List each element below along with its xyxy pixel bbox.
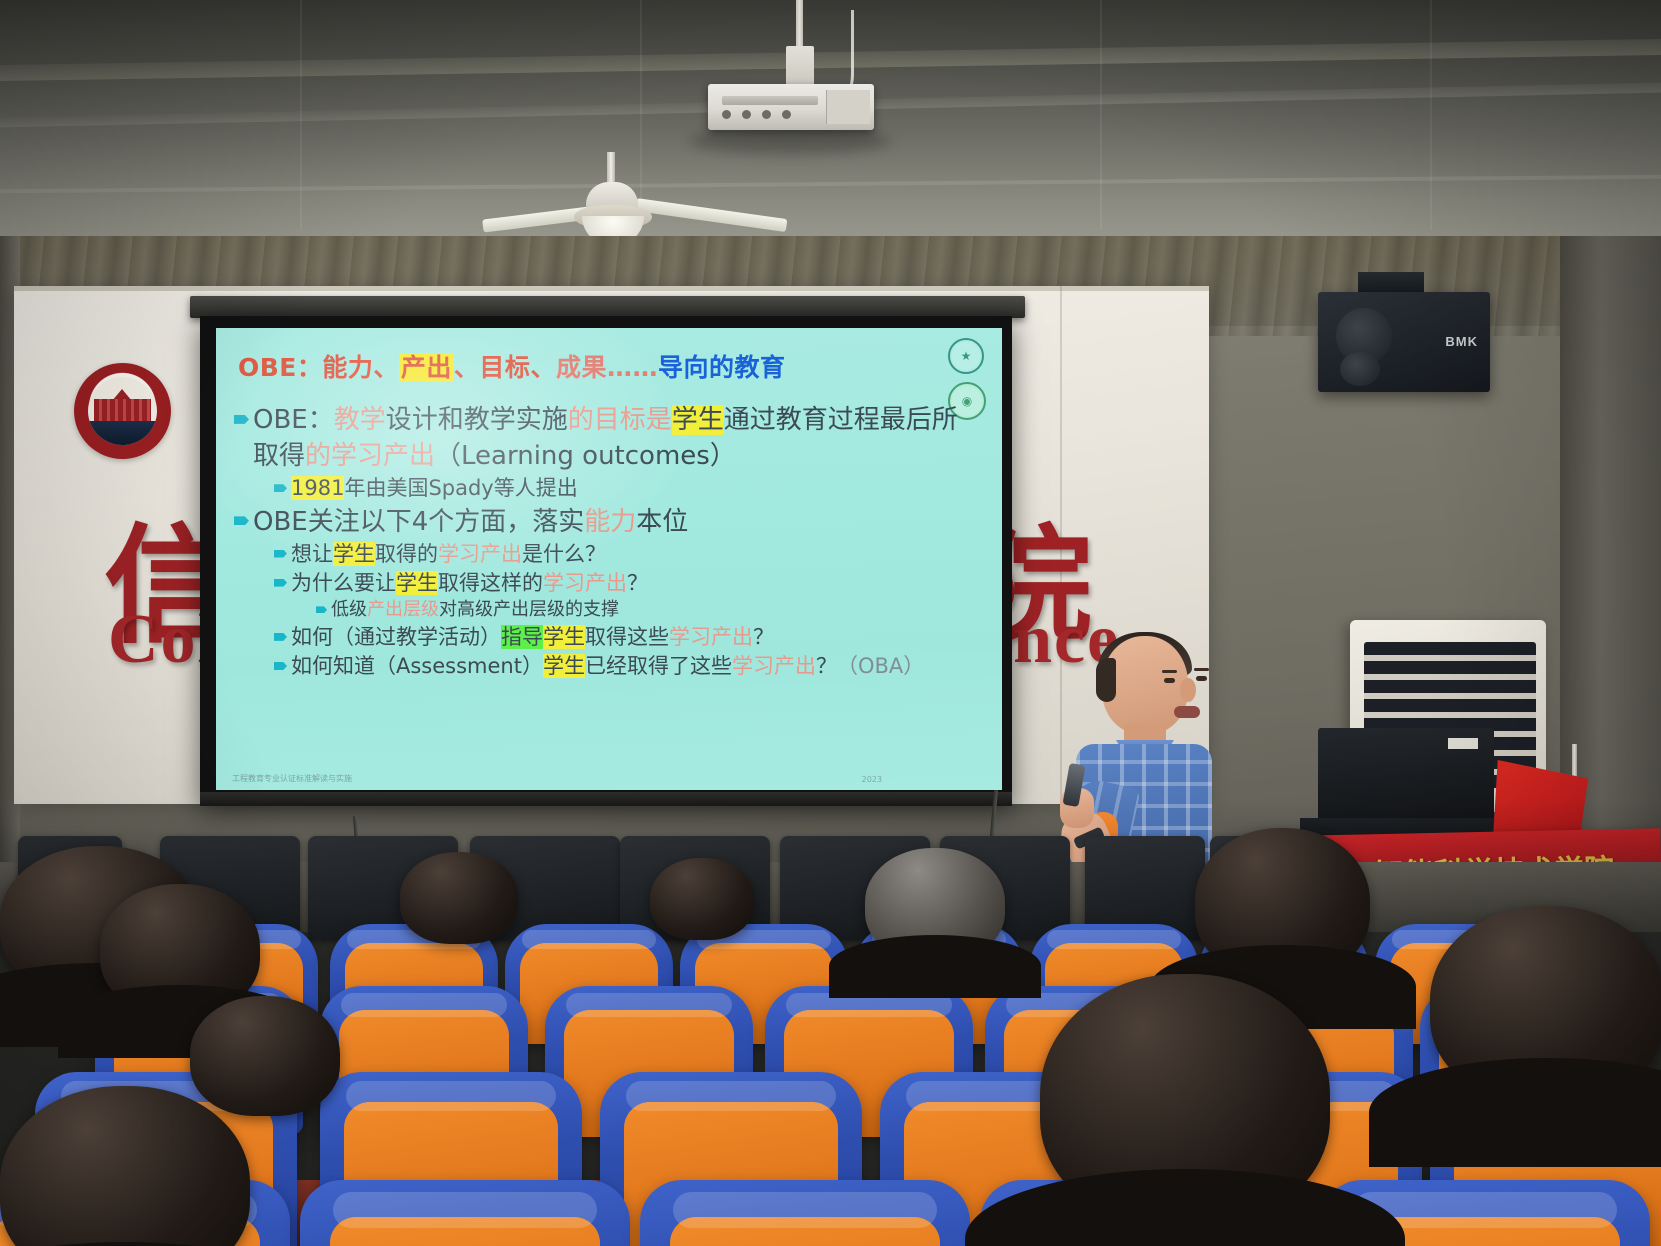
slide-bullet-level-1: 取得的学习产出（Learning outcomes） xyxy=(234,440,986,472)
bullet-text: 为什么要让学生取得这样的学习产出？ xyxy=(291,570,648,596)
seat-highlight xyxy=(341,993,507,1017)
bullet-marker-icon xyxy=(316,606,327,613)
bullet-text: 1981年由美国Spady等人提出 xyxy=(291,475,578,501)
projector-port xyxy=(782,110,791,119)
slide-bullet-level-2: 如何（通过教学活动）指导学生取得这些学习产出？ xyxy=(274,624,986,650)
slide-title: OBE：能力、产出、目标、成果……导向的教育 xyxy=(238,348,785,384)
bullet-text-run: 如何知道（Assessment） xyxy=(291,654,543,678)
ceiling-panel-line xyxy=(300,0,302,230)
bullet-text: 如何（通过教学活动）指导学生取得这些学习产出？ xyxy=(291,624,774,650)
bullet-text-run: 取得的 xyxy=(375,542,438,566)
seat-highlight xyxy=(1047,930,1181,949)
projector-side-panel xyxy=(826,90,870,124)
presenter-ear xyxy=(1180,678,1196,702)
seat-highlight xyxy=(626,1081,836,1111)
monitor-sticker xyxy=(1448,738,1478,749)
bullet-marker-icon xyxy=(234,415,249,424)
audience-head xyxy=(190,996,340,1116)
bullet-text-run: 产出层级 xyxy=(367,599,439,620)
ceiling-fan-rod xyxy=(607,152,615,186)
bullet-text-run: OBE： xyxy=(253,405,334,435)
audience-head xyxy=(1040,974,1330,1224)
audience-seat xyxy=(300,1180,630,1246)
audience-head xyxy=(400,852,518,944)
bullet-marker-icon xyxy=(274,633,287,641)
bullet-text-run: 教学 xyxy=(334,405,386,435)
bullet-text-run: 是什么？ xyxy=(522,542,606,566)
wall-speaker-icon: BMK xyxy=(1318,292,1490,392)
bullet-text-run: 学习产出 xyxy=(438,542,522,566)
seat-highlight xyxy=(333,1192,597,1229)
bullet-text-run: 学生 xyxy=(672,405,724,435)
projector-port xyxy=(762,110,771,119)
bullet-text-run: 指导 xyxy=(501,625,543,649)
slide-bullet-list: OBE：教学设计和教学实施的目标是学生通过教育过程最后所取得的学习产出（Lear… xyxy=(230,400,986,679)
title-segment-2: 、目标、 xyxy=(454,353,556,382)
ceiling-panel-line xyxy=(1430,0,1432,230)
slide-bullet-level-1: OBE关注以下4个方面，落实能力本位 xyxy=(234,506,986,538)
bullet-text-run: 如何（通过教学活动） xyxy=(291,625,501,649)
bullet-text-run: 本位 xyxy=(636,507,688,537)
bullet-text-run: 1981 xyxy=(291,476,344,500)
presenter-eye xyxy=(1164,678,1175,683)
slide-bullet-level-3: 低级产出层级对高级产出层级的支撑 xyxy=(316,599,986,621)
bullet-text-run: ？ xyxy=(753,625,774,649)
slide-bullet-level-2: 1981年由美国Spady等人提出 xyxy=(274,475,986,501)
speaker-cone xyxy=(1340,352,1380,386)
title-dots: …… xyxy=(607,353,658,382)
slide-bullet-level-2: 想让学生取得的学习产出是什么？ xyxy=(274,541,986,567)
bullet-text-run: 学生 xyxy=(396,571,438,595)
bullet-text-run: 设计和教学实施 xyxy=(386,405,568,435)
wall-panel-top-edge xyxy=(14,286,1209,291)
emblem-building xyxy=(94,399,151,421)
bullet-text-run: 学生 xyxy=(333,542,375,566)
audience-seat xyxy=(640,1180,970,1246)
bullet-text: 低级产出层级对高级产出层级的支撑 xyxy=(331,599,619,621)
audience-head xyxy=(1195,828,1370,978)
bullet-text-run: 学生 xyxy=(543,625,585,649)
bullet-text-run: 想让 xyxy=(291,542,333,566)
presenter-eyebrow xyxy=(1162,670,1177,673)
emblem-inner-disc xyxy=(88,377,157,445)
slide-footer-left: 工程教育专业认证标准解读与实施 xyxy=(232,773,352,784)
presenter-eye xyxy=(1196,676,1207,681)
bullet-text: 取得的学习产出（Learning outcomes） xyxy=(253,440,736,472)
bullet-text-run: 为什么要让 xyxy=(291,571,396,595)
bullet-marker-icon xyxy=(234,516,249,525)
bullet-text-run: 学习产出 xyxy=(732,654,816,678)
bullet-text-run: 低级 xyxy=(331,599,367,620)
seat-highlight xyxy=(566,993,732,1017)
bullet-text-run: （Learning outcomes） xyxy=(435,441,736,471)
bullet-text: OBE关注以下4个方面，落实能力本位 xyxy=(253,506,688,538)
bullet-text-run: 学习产出 xyxy=(669,625,753,649)
bullet-text: 想让学生取得的学习产出是什么？ xyxy=(291,541,606,567)
title-segment-blue: 导向的教育 xyxy=(658,353,786,382)
emblem-water xyxy=(88,421,157,445)
bullet-text-run: 年由美国Spady等人提出 xyxy=(344,476,577,500)
presenter-eyebrow xyxy=(1194,668,1209,671)
title-prefix: OBE： xyxy=(238,353,322,382)
projection-screen-case xyxy=(190,296,1025,318)
title-segment-3: 成果 xyxy=(556,353,607,382)
university-emblem-icon xyxy=(74,363,171,459)
projector-vent xyxy=(722,96,818,105)
ceiling-panel-line xyxy=(640,0,642,230)
bullet-text-run: 通过教育过程最后所 xyxy=(724,405,958,435)
university-seal-icon: ★ xyxy=(948,338,984,374)
bullet-text: OBE：教学设计和教学实施的目标是学生通过教育过程最后所 xyxy=(253,404,958,436)
bullet-text-run: ？ xyxy=(627,571,648,595)
seat-highlight xyxy=(673,1192,937,1229)
slide-footer-right: 2023 xyxy=(862,775,882,784)
bullet-text-run: OBE关注以下4个方面，落实 xyxy=(253,507,584,537)
bullet-marker-icon xyxy=(274,662,287,670)
projector-icon xyxy=(708,84,874,130)
bullet-text-run: 的学习产出 xyxy=(305,441,435,471)
bullet-text-run: 已经取得了这些 xyxy=(585,654,732,678)
presenter-hair-side xyxy=(1096,658,1116,702)
seat-highlight xyxy=(522,930,656,949)
bullet-marker-icon xyxy=(274,579,287,587)
audience-head xyxy=(865,848,1005,960)
ceiling-panel-line xyxy=(1100,0,1102,230)
bullet-marker-icon xyxy=(274,550,287,558)
audience-head xyxy=(650,858,754,940)
bullet-marker-icon xyxy=(274,484,287,492)
title-highlight: 产出 xyxy=(399,353,454,382)
bullet-text-run: 的目标是 xyxy=(568,405,672,435)
bullet-text-run: 学生 xyxy=(543,654,585,678)
audience-head xyxy=(100,884,260,1014)
presenter-mouth xyxy=(1174,706,1200,718)
slide-bullet-level-2: 如何知道（Assessment）学生已经取得了这些学习产出？（OBA） xyxy=(274,653,986,679)
audience-head xyxy=(1430,906,1661,1101)
bullet-text-run: 能力 xyxy=(584,507,636,537)
presentation-slide: ★ ◉ OBE：能力、产出、目标、成果……导向的教育 OBE：教学设计和教学实施… xyxy=(216,328,1002,790)
lecture-hall-scene: 信 院 Coll ence ★ ◉ OBE：能力、产出、目标、成果……导向的教育… xyxy=(0,0,1661,1246)
projection-screen: ★ ◉ OBE：能力、产出、目标、成果……导向的教育 OBE：教学设计和教学实施… xyxy=(200,316,1012,804)
slide-bullet-level-2: 为什么要让学生取得这样的学习产出？ xyxy=(274,570,986,596)
projector-port xyxy=(722,110,731,119)
bullet-text-run: ？ xyxy=(816,654,837,678)
bullet-text-run: 取得这样的 xyxy=(438,571,543,595)
title-segment-1: 能力、 xyxy=(322,353,399,382)
audience-seating xyxy=(0,836,1661,1246)
seat-highlight xyxy=(346,1081,556,1111)
bullet-text-run: 取得这些 xyxy=(585,625,669,649)
bullet-text-run: 取得 xyxy=(253,441,305,471)
projector-port xyxy=(742,110,751,119)
slide-bullet-level-1: OBE：教学设计和教学实施的目标是学生通过教育过程最后所 xyxy=(234,404,986,436)
bullet-text-run: 学习产出 xyxy=(543,571,627,595)
bullet-text: 如何知道（Assessment）学生已经取得了这些学习产出？（OBA） xyxy=(291,653,924,679)
bullet-text-run: 对高级产出层级的支撑 xyxy=(439,599,619,620)
bullet-text-run: （OBA） xyxy=(837,654,924,678)
speaker-brand-label: BMK xyxy=(1445,334,1478,349)
